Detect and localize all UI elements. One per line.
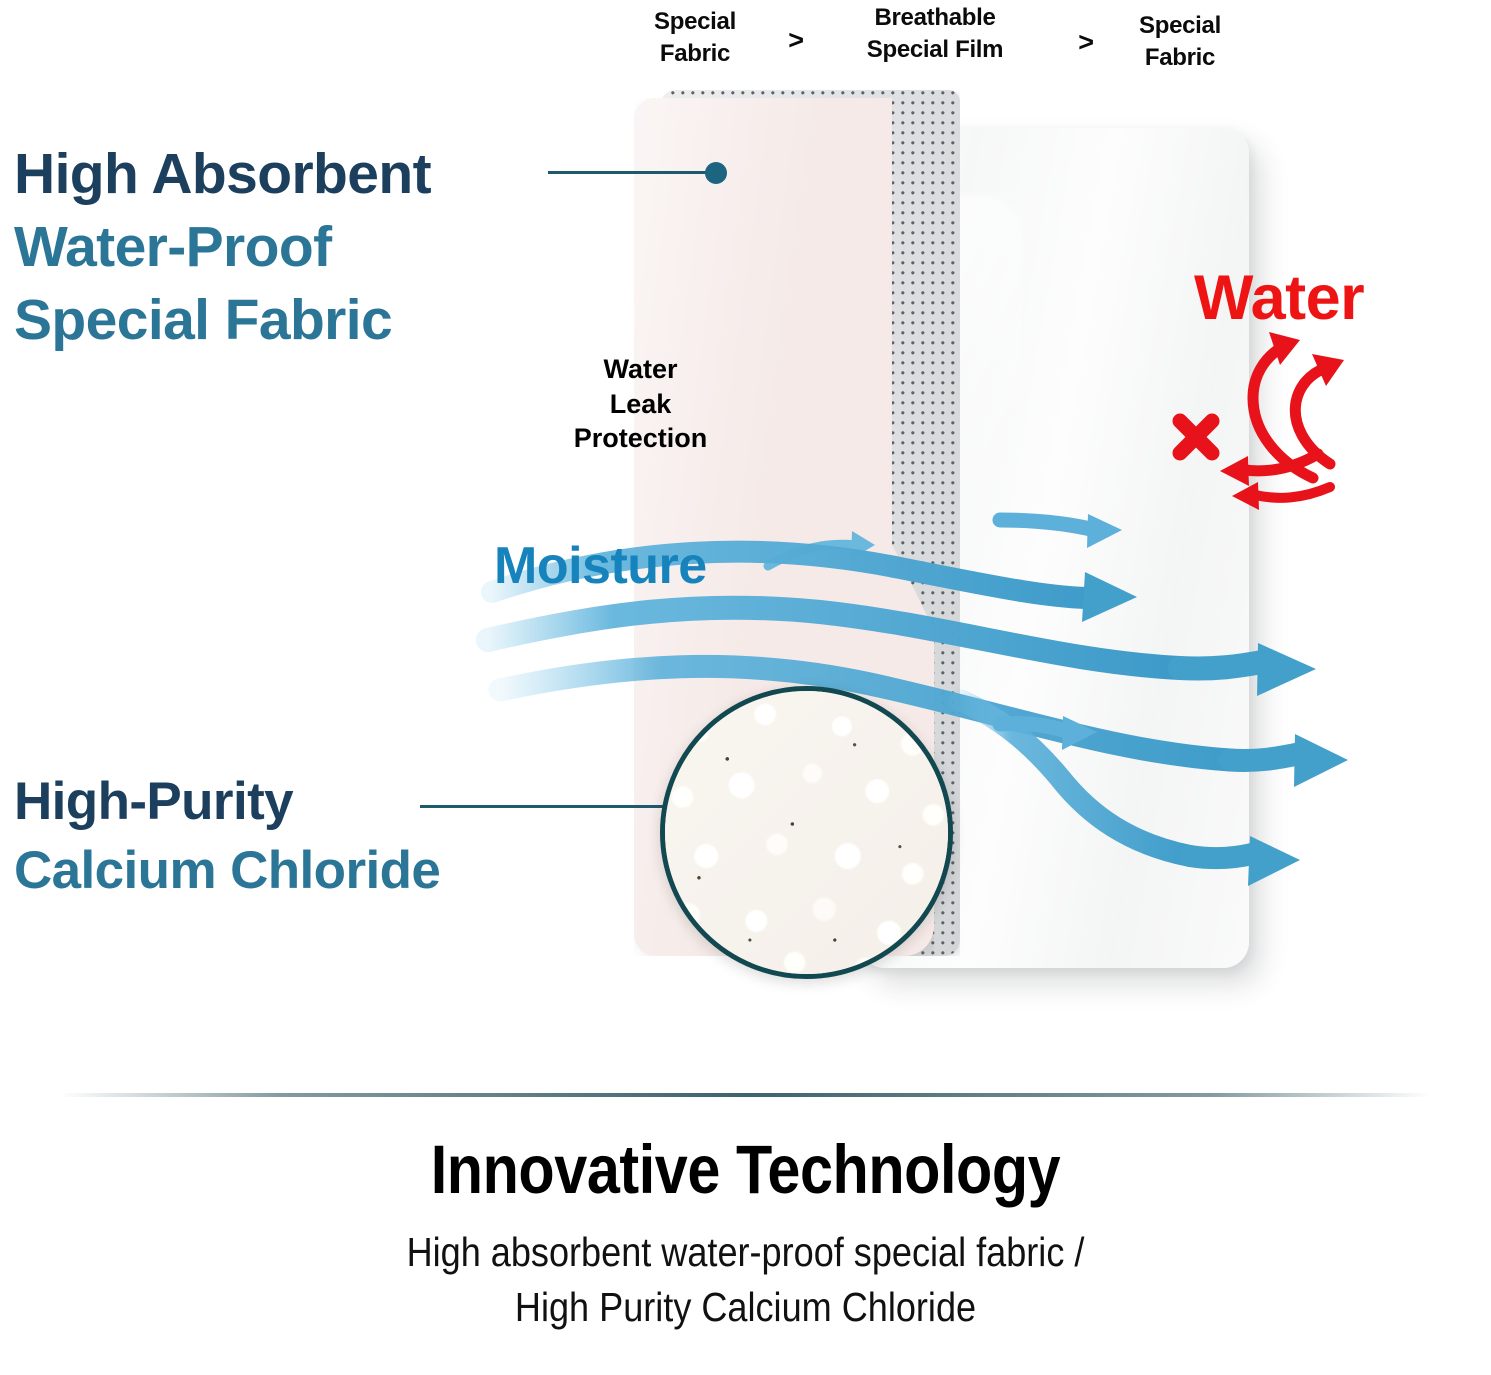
leader-line-absorbent — [548, 171, 723, 174]
chevron-right-icon: > — [778, 22, 814, 58]
annotation-moisture: Moisture — [494, 536, 707, 596]
footer-title: Innovative Technology — [104, 1130, 1386, 1209]
infographic-root: Special Fabric > Breathable Special Film… — [0, 0, 1491, 1375]
annotation-water-leak-protection: Water Leak Protection — [528, 352, 753, 456]
heading-high-purity-calcium-chloride: High-Purity Calcium Chloride — [14, 768, 440, 906]
heading-line-1: High-Purity — [14, 768, 440, 837]
label-layer-breathable-film: Breathable Special Film — [810, 2, 1060, 67]
annotation-water: Water — [1194, 262, 1364, 334]
label-layer-special-fabric-right: Special Fabric — [1100, 10, 1260, 75]
heading-high-absorbent-fabric: High Absorbent Water-Proof Special Fabri… — [14, 138, 431, 357]
leader-line-calcium — [420, 805, 685, 808]
heading-line-2: Water-Proof — [14, 211, 431, 284]
layer-sequence-labels: Special Fabric > Breathable Special Film… — [620, 0, 1320, 88]
chevron-right-icon: > — [1068, 24, 1104, 60]
granule-specks-texture — [665, 691, 948, 974]
heading-line-2: Calcium Chloride — [14, 837, 440, 906]
footer-block: Innovative Technology High absorbent wat… — [0, 1130, 1491, 1336]
leader-dot-icon — [705, 162, 727, 184]
label-layer-special-fabric-left: Special Fabric — [620, 6, 770, 71]
footer-subtitle: High absorbent water-proof special fabri… — [89, 1225, 1401, 1336]
heading-line-1: High Absorbent — [14, 138, 431, 211]
calcium-chloride-granule-inset — [660, 686, 953, 979]
heading-line-3: Special Fabric — [14, 284, 431, 357]
section-divider — [60, 1093, 1431, 1097]
